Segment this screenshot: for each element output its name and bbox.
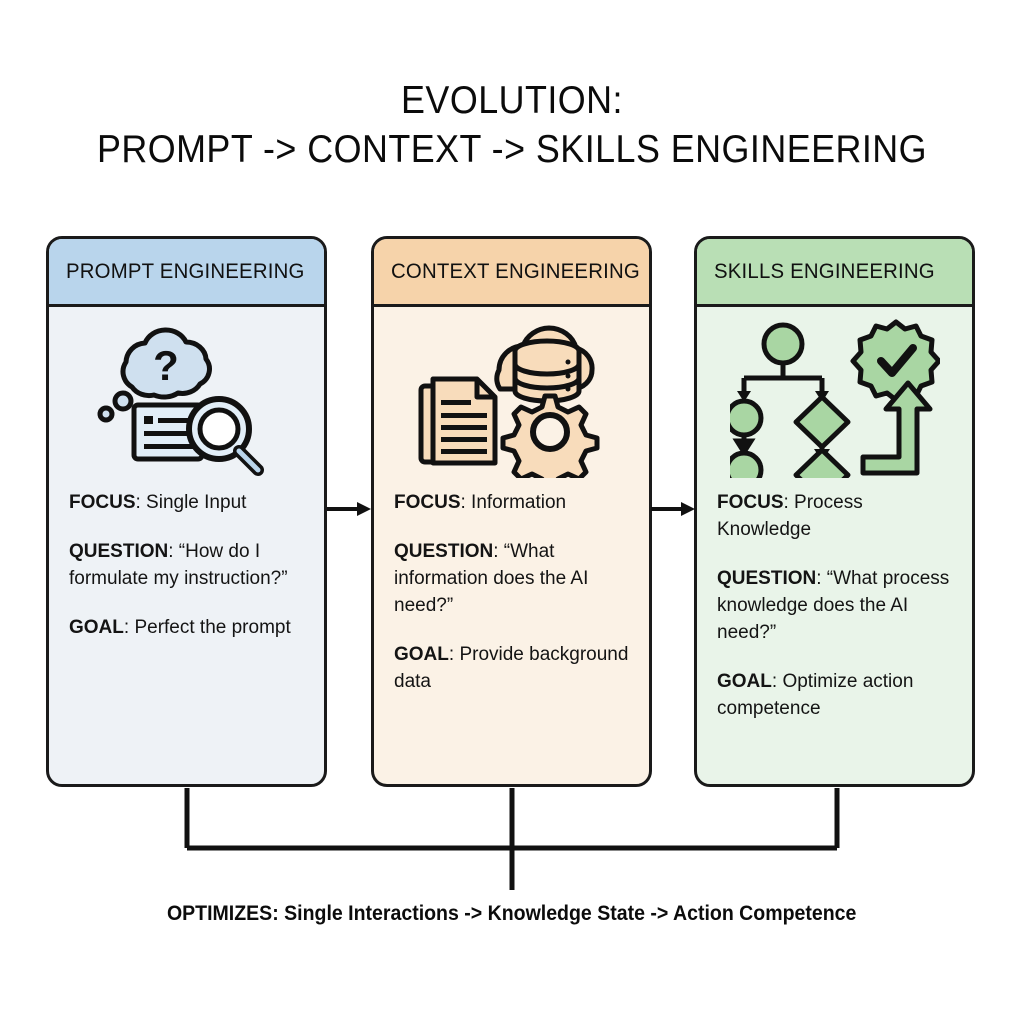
cloud-database-icon xyxy=(496,328,591,401)
focus-label: FOCUS xyxy=(394,492,461,513)
arrow-right-icon xyxy=(327,500,372,518)
card-header-context-engineering: CONTEXT ENGINEERING xyxy=(374,239,649,307)
icon-area-skills-engineering xyxy=(697,307,972,489)
goal-line: GOAL: Provide background data xyxy=(394,641,629,695)
flowchart-icon xyxy=(730,325,848,478)
footer-caption-text: OPTIMIZES: Single Interactions -> Knowle… xyxy=(167,902,856,926)
card-prompt-engineering[interactable]: PROMPT ENGINEERING ? xyxy=(46,236,327,787)
question-label: QUESTION xyxy=(394,541,493,562)
card-header-label: SKILLS ENGINEERING xyxy=(714,260,935,284)
connector-arrow-context-to-skills xyxy=(651,500,696,518)
focus-value: : Single Input xyxy=(136,492,247,513)
card-header-prompt-engineering: PROMPT ENGINEERING xyxy=(49,239,324,307)
goal-line: GOAL: Perfect the prompt xyxy=(69,614,304,641)
focus-label: FOCUS xyxy=(717,492,784,513)
focus-label: FOCUS xyxy=(69,492,136,513)
bracket-join-icon xyxy=(40,780,984,900)
skills-engineering-icon-group xyxy=(730,318,940,478)
svg-text:?: ? xyxy=(153,342,179,389)
up-arrow-icon xyxy=(863,383,930,473)
document-magnifier-icon xyxy=(134,399,258,470)
card-header-label: PROMPT ENGINEERING xyxy=(66,260,305,284)
question-line: QUESTION: “How do I formulate my instruc… xyxy=(69,538,304,592)
focus-value: : Information xyxy=(461,492,567,513)
diagram-canvas: EVOLUTION: PROMPT -> CONTEXT -> SKILLS E… xyxy=(0,0,1024,1024)
prompt-engineering-icon-group: ? xyxy=(82,318,292,478)
focus-line: FOCUS: Single Input xyxy=(69,489,304,516)
goal-label: GOAL xyxy=(717,671,772,692)
card-body-context-engineering: FOCUS: Information QUESTION: “What infor… xyxy=(374,489,649,695)
question-line: QUESTION: “What process knowledge does t… xyxy=(717,565,952,646)
footer-caption: OPTIMIZES: Single Interactions -> Knowle… xyxy=(0,902,1024,926)
question-label: QUESTION xyxy=(69,541,168,562)
card-body-prompt-engineering: FOCUS: Single Input QUESTION: “How do I … xyxy=(49,489,324,641)
title-line-2: PROMPT -> CONTEXT -> SKILLS ENGINEERING xyxy=(41,124,983,176)
question-line: QUESTION: “What information does the AI … xyxy=(394,538,629,619)
database-cylinder-icon xyxy=(515,341,579,401)
card-context-engineering[interactable]: CONTEXT ENGINEERING xyxy=(371,236,652,787)
question-label: QUESTION xyxy=(717,568,816,589)
bottom-bracket-connector xyxy=(40,780,984,900)
icon-area-context-engineering xyxy=(374,307,649,489)
card-body-skills-engineering: FOCUS: Process Knowledge QUESTION: “What… xyxy=(697,489,972,722)
gear-icon xyxy=(503,396,597,478)
card-header-skills-engineering: SKILLS ENGINEERING xyxy=(697,239,972,307)
documents-stack-icon xyxy=(421,379,495,463)
card-skills-engineering[interactable]: SKILLS ENGINEERING xyxy=(694,236,975,787)
diagram-title: EVOLUTION: PROMPT -> CONTEXT -> SKILLS E… xyxy=(0,78,1024,176)
context-engineering-icon-group xyxy=(407,318,617,478)
icon-area-prompt-engineering: ? xyxy=(49,307,324,489)
focus-line: FOCUS: Information xyxy=(394,489,629,516)
arrow-right-icon xyxy=(651,500,696,518)
goal-label: GOAL xyxy=(394,644,449,665)
goal-label: GOAL xyxy=(69,617,124,638)
goal-value: : Perfect the prompt xyxy=(124,617,291,638)
verified-check-badge-icon xyxy=(853,322,939,400)
focus-line: FOCUS: Process Knowledge xyxy=(717,489,952,543)
goal-line: GOAL: Optimize action competence xyxy=(717,668,952,722)
connector-arrow-prompt-to-context xyxy=(327,500,372,518)
card-header-label: CONTEXT ENGINEERING xyxy=(391,260,640,284)
title-line-1: EVOLUTION: xyxy=(41,78,983,124)
